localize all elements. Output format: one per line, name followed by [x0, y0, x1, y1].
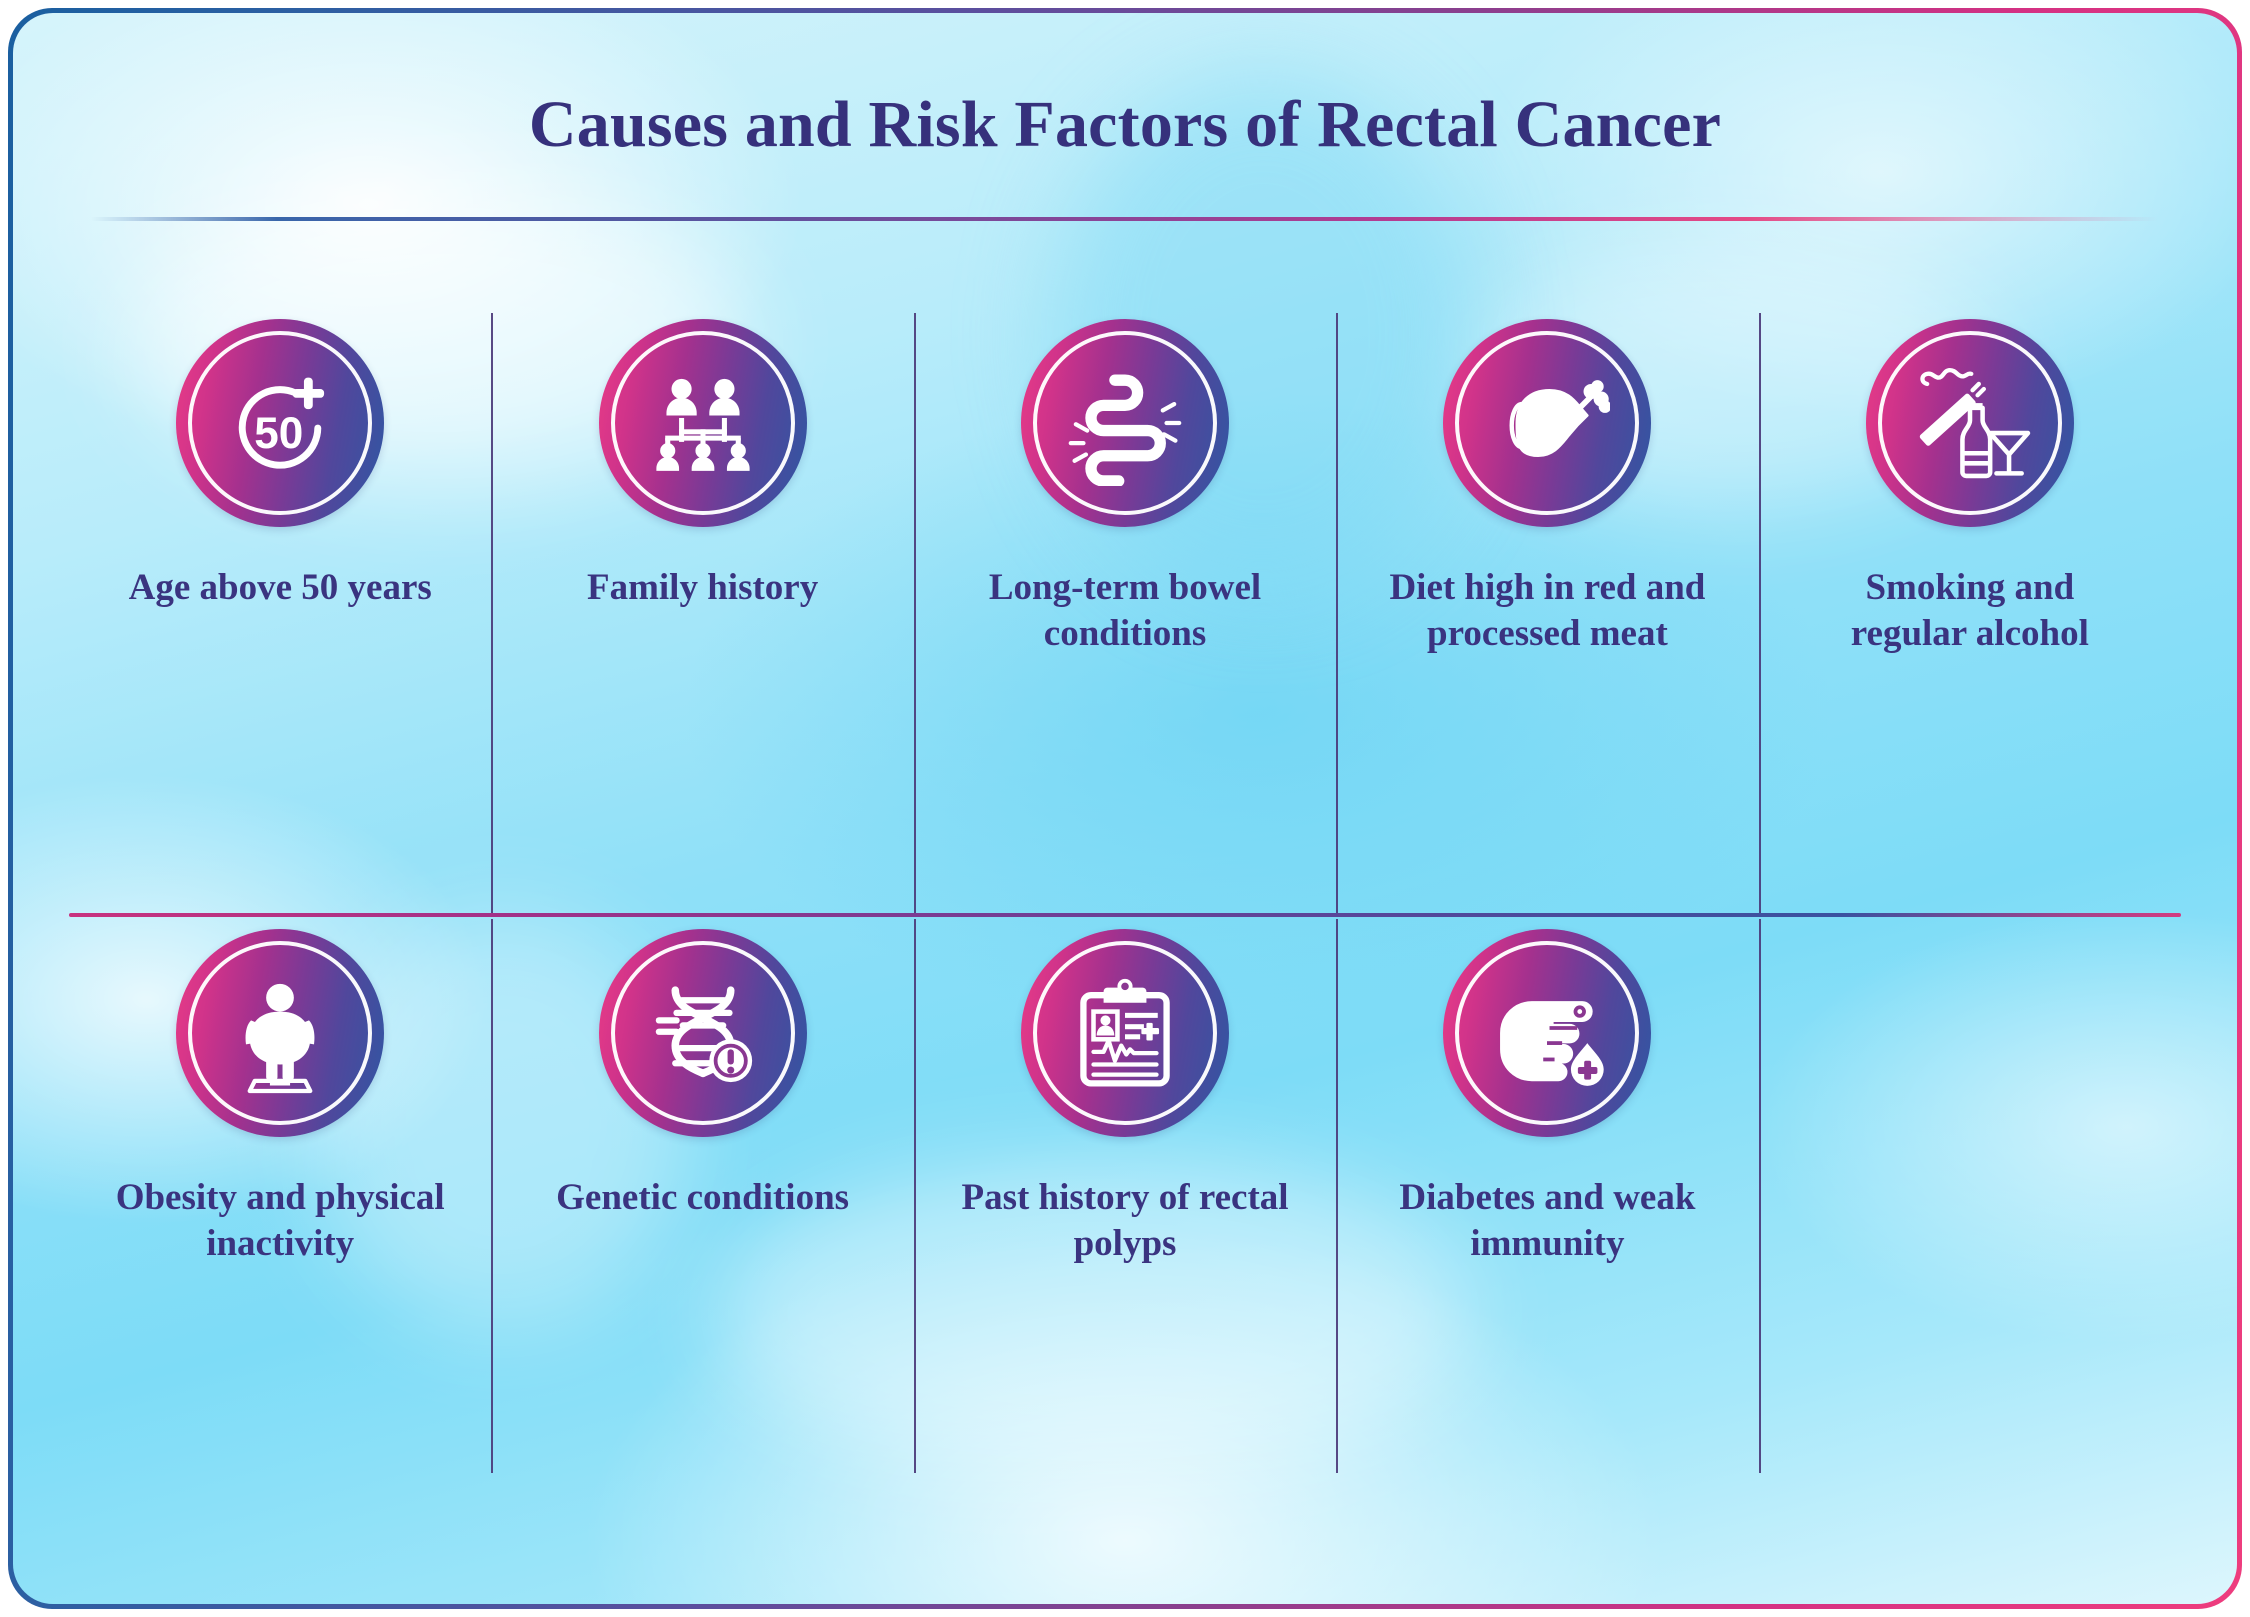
- svg-text:50: 50: [254, 409, 303, 458]
- factor-label: Obesity and physical inactivity: [115, 1175, 445, 1268]
- factors-grid: 50 Age above 50 years: [69, 313, 2181, 1473]
- factor-card-diabetes[interactable]: Diabetes and weak immunity: [1336, 917, 1758, 1473]
- blood-drop-finger-test-icon: [1443, 929, 1651, 1137]
- factor-card-smoking-alcohol[interactable]: Smoking and regular alcohol: [1759, 313, 2181, 913]
- dna-warning-icon: [599, 929, 807, 1137]
- title-divider: [91, 217, 2159, 221]
- factor-label: Long-term bowel conditions: [960, 565, 1290, 658]
- cigarette-bottle-cocktail-icon: [1866, 319, 2074, 527]
- age-50-plus-icon: 50: [176, 319, 384, 527]
- intestine-pain-icon: [1021, 319, 1229, 527]
- factor-card-obesity[interactable]: Obesity and physical inactivity: [69, 917, 491, 1473]
- poster-root: Causes and Risk Factors of Rectal Cancer: [0, 0, 2250, 1617]
- factor-label: Family history: [587, 565, 818, 611]
- family-tree-icon: [599, 319, 807, 527]
- factor-card-rectal-polyps[interactable]: Past history of rectal polyps: [914, 917, 1336, 1473]
- factor-label: Age above 50 years: [129, 565, 432, 611]
- factor-card-genetic[interactable]: Genetic conditions: [491, 917, 913, 1473]
- factor-label: Smoking and regular alcohol: [1805, 565, 2135, 658]
- page-title: Causes and Risk Factors of Rectal Cancer: [13, 87, 2237, 163]
- gradient-border-frame: Causes and Risk Factors of Rectal Cancer: [8, 8, 2242, 1609]
- medical-clipboard-icon: [1021, 929, 1229, 1137]
- obese-person-on-scale-icon: [176, 929, 384, 1137]
- factor-card-age-above-50[interactable]: 50 Age above 50 years: [69, 313, 491, 913]
- factor-label: Diabetes and weak immunity: [1382, 1175, 1712, 1268]
- factor-label: Genetic conditions: [556, 1175, 849, 1221]
- ham-meat-icon: [1443, 319, 1651, 527]
- factors-row-2: Obesity and physical inactivity: [69, 917, 2181, 1473]
- poster-canvas: Causes and Risk Factors of Rectal Cancer: [13, 13, 2237, 1604]
- factor-card-bowel-conditions[interactable]: Long-term bowel conditions: [914, 313, 1336, 913]
- factors-row-1: 50 Age above 50 years: [69, 313, 2181, 913]
- factor-label: Diet high in red and processed meat: [1382, 565, 1712, 658]
- factor-card-family-history[interactable]: Family history: [491, 313, 913, 913]
- factor-card-red-meat[interactable]: Diet high in red and processed meat: [1336, 313, 1758, 913]
- factor-label: Past history of rectal polyps: [960, 1175, 1290, 1268]
